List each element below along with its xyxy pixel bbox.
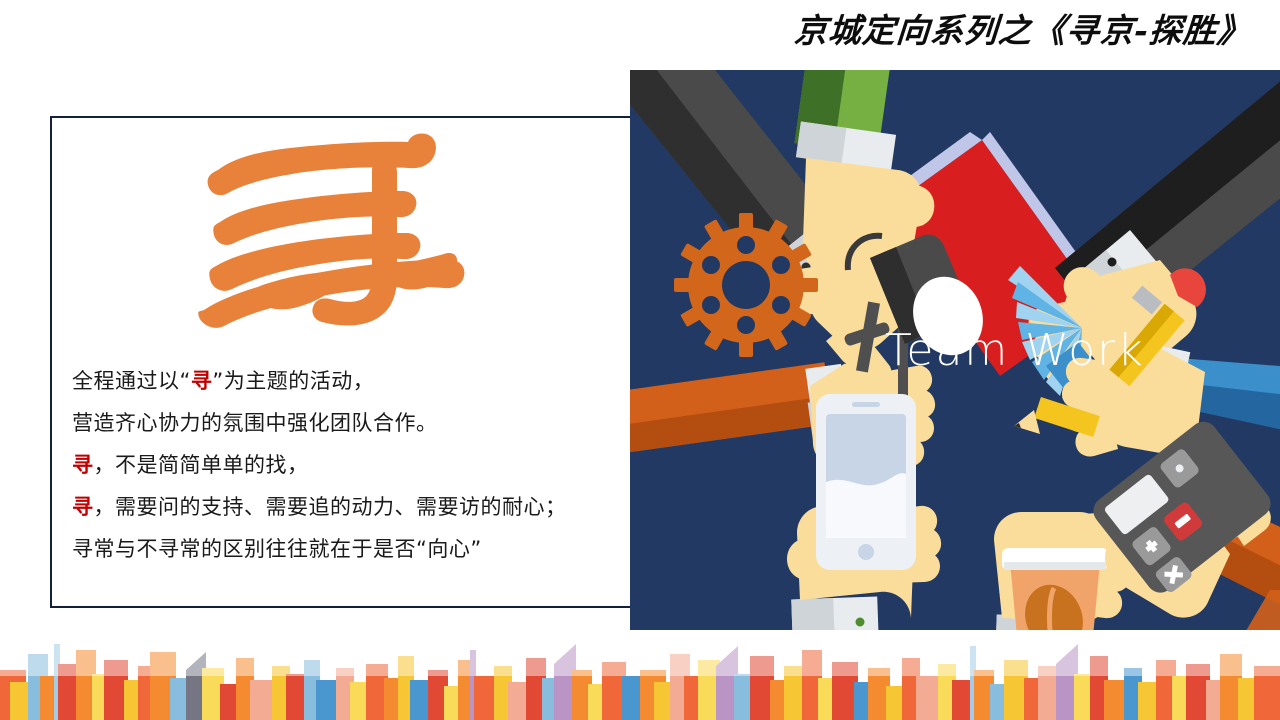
body-line-5-text: 寻常与不寻常的区别往往就在于是否“向心”: [72, 537, 482, 561]
body-line-3: 寻，不是简简单单的找，: [72, 444, 632, 486]
body-line-2: 营造齐心协力的氛围中强化团队合作。: [72, 402, 632, 444]
body-line-3-text: ，不是简简单单的找，: [94, 453, 309, 477]
body-line-4-highlight: 寻: [72, 495, 94, 519]
teamwork-illustration: Team Work: [630, 70, 1280, 658]
body-line-4-text: ，需要问的支持、需要追的动力、需要访的耐心；: [94, 495, 567, 519]
slide-root: 京城定向系列之《寻京-探胜》: [0, 0, 1280, 720]
body-line-1-part-a: 全程通过以“: [72, 369, 191, 393]
body-line-5: 寻常与不寻常的区别往往就在于是否“向心”: [72, 528, 632, 570]
city-skyline-decoration: [0, 630, 1280, 720]
body-line-4: 寻，需要问的支持、需要追的动力、需要访的耐心；: [72, 486, 632, 528]
body-line-1-part-b: ”为主题的活动，: [212, 369, 374, 393]
team-work-label: Team Work: [885, 325, 1145, 376]
body-line-1-highlight: 寻: [191, 369, 213, 393]
skyline-svg: [0, 630, 1280, 720]
slide-title: 京城定向系列之《寻京-探胜》: [768, 6, 1276, 56]
body-line-1: 全程通过以“寻”为主题的活动，: [72, 360, 632, 402]
body-line-3-highlight: 寻: [72, 453, 94, 477]
body-text: 全程通过以“寻”为主题的活动， 营造齐心协力的氛围中强化团队合作。 寻，不是简简…: [72, 360, 632, 570]
body-line-2-text: 营造齐心协力的氛围中强化团队合作。: [72, 411, 438, 435]
